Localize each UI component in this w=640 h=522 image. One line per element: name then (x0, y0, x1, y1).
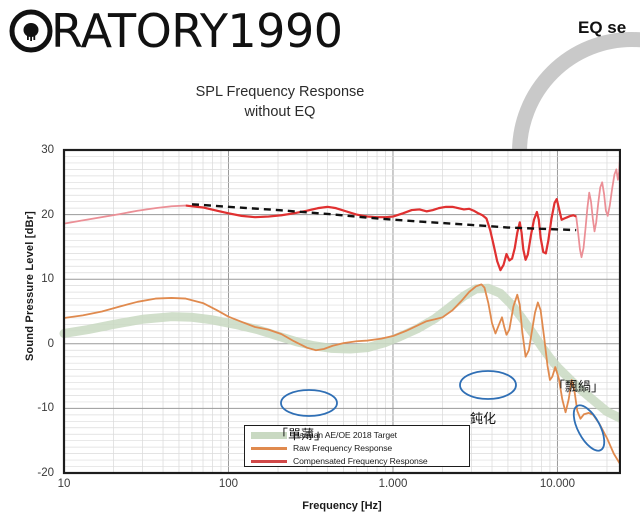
y-tick-10: 10 (26, 273, 54, 285)
legend-item-compensated: Compensated Frequency Response (249, 455, 465, 467)
x-tick-10.000: 10.000 (540, 478, 575, 490)
y-tick--20: -20 (26, 467, 54, 479)
legend-item-raw: Raw Frequency Response (249, 442, 465, 454)
annotation-label-thin: 「單薄」 (275, 424, 327, 443)
y-tick-20: 20 (26, 209, 54, 221)
y-tick-30: 30 (26, 144, 54, 156)
y-tick--10: -10 (26, 402, 54, 414)
oratory-logo-icon (8, 8, 54, 54)
annotation-label-blunt: 鈍化 (470, 408, 496, 427)
legend-swatch-raw (251, 447, 287, 450)
x-tick-10: 10 (58, 478, 71, 490)
legend-swatch-compensated (251, 460, 287, 463)
brand-name: RATORY1990 (51, 8, 342, 54)
eq-section-title: EQ se (578, 18, 626, 38)
y-tick-0: 0 (26, 338, 54, 350)
spl-frequency-response-chart: SPL Frequency Response without EQ Sound … (0, 60, 640, 522)
legend-label-compensated: Compensated Frequency Response (293, 456, 428, 466)
annotation-label-airy: 「飄緺」 (552, 376, 604, 395)
right-mask (621, 60, 640, 522)
x-tick-100: 100 (219, 478, 238, 490)
legend-label-raw: Raw Frequency Response (293, 443, 392, 453)
x-tick-1.000: 1.000 (379, 478, 408, 490)
brand-logo: RATORY1990 (8, 4, 342, 58)
